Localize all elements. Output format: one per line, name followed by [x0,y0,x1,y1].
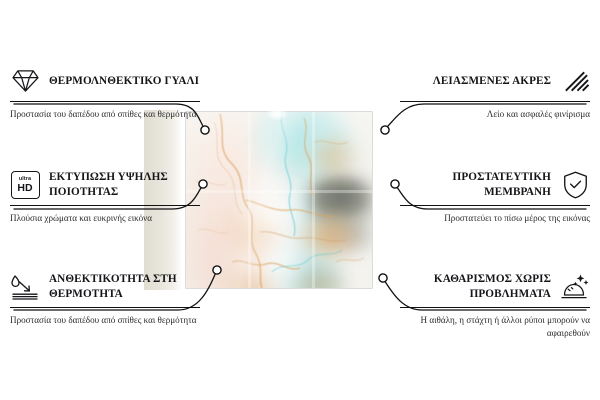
divider [400,205,590,206]
feature-high-quality-print: ultra HD ΕΚΤΥΠΩΣΗ ΥΨΗΛΗΣ ΠΟΙΟΤΗΤΑΣ Πλούσ… [10,168,200,225]
diamond-icon [10,66,40,96]
ultra-hd-bottom-label: HD [17,183,32,194]
connector-dot-bottom-right [379,274,387,282]
feature-protective-membrane: ΠΡΟΣΤΑΤΕΥΤΙΚΗ ΜΕΜΒΡΑΝΗ Προστατεύει το πί… [400,168,590,225]
feature-description: Πλούσια χρώματα και ευκρινής εικόνα [10,212,200,225]
connector-dot-mid-right [391,180,399,188]
feature-heat-resistant-glass: ΘΕΡΜΟΛΝΘΕΚΤΙΚΟ ΓΥΑΛΙ Προστασία του δαπέδ… [10,64,200,121]
connector-dot-top-right [381,126,389,134]
feature-header: ΛΕΙΑΣΜΕΝΕΣ ΑΚΡΕΣ [400,64,590,98]
ink-veins [186,112,372,288]
product-image [186,112,372,288]
feature-header: ΘΕΡΜΟΛΝΘΕΚΤΙΚΟ ΓΥΑΛΙ [10,64,200,98]
feature-title: ΑΝΘΕΚΤΙΚΟΤΗΤΑ ΣΤΗ ΘΕΡΜΟΤΗΤΑ [49,272,200,302]
sparkle-clean-icon [560,272,590,302]
feature-header: ΠΡΟΣΤΑΤΕΥΤΙΚΗ ΜΕΜΒΡΑΝΗ [400,168,590,202]
divider [400,101,590,102]
flame-heat-icon [10,272,40,302]
divider [10,101,200,102]
infographic-page: ΘΕΡΜΟΛΝΘΕΚΤΙΚΟ ΓΥΑΛΙ Προστασία του δαπέδ… [0,0,600,400]
feature-easy-cleaning: ΚΑΘΑΡΙΣΜΟΣ ΧΩΡΙΣ ΠΡΟΒΛΗΜΑΤΑ Η αιθάλη, η … [400,270,590,340]
feature-header: ultra HD ΕΚΤΥΠΩΣΗ ΥΨΗΛΗΣ ΠΟΙΟΤΗΤΑΣ [10,168,200,202]
feature-heat-durability: ΑΝΘΕΚΤΙΚΟΤΗΤΑ ΣΤΗ ΘΕΡΜΟΤΗΤΑ Προστασία το… [10,270,200,327]
feature-description: Η αιθάλη, η στάχτη ή άλλοι ρύποι μπορούν… [400,314,590,340]
feature-header: ΑΝΘΕΚΤΙΚΟΤΗΤΑ ΣΤΗ ΘΕΡΜΟΤΗΤΑ [10,270,200,304]
feature-title: ΕΚΤΥΠΩΣΗ ΥΨΗΛΗΣ ΠΟΙΟΤΗΤΑΣ [49,170,200,200]
shield-check-icon [560,170,590,200]
glass-panel-surface [186,112,372,288]
feature-title: ΠΡΟΣΤΑΤΕΥΤΙΚΗ ΜΕΜΒΡΑΝΗ [400,170,551,200]
feature-title: ΘΕΡΜΟΛΝΘΕΚΤΙΚΟ ΓΥΑΛΙ [49,74,200,89]
feature-header: ΚΑΘΑΡΙΣΜΟΣ ΧΩΡΙΣ ΠΡΟΒΛΗΜΑΤΑ [400,270,590,304]
divider [10,307,200,308]
divider [10,205,200,206]
feature-description: Προστασία του δαπέδου από σπίθες και θερ… [10,108,200,121]
divider [400,307,590,308]
feature-polished-edges: ΛΕΙΑΣΜΕΝΕΣ ΑΚΡΕΣ Λείο και ασφαλές φινίρι… [400,64,590,121]
feature-description: Προστατεύει το πίσω μέρος της εικόνας [400,212,590,225]
ultra-hd-icon: ultra HD [10,170,40,200]
diagonal-stripes-icon [560,66,590,96]
feature-title: ΚΑΘΑΡΙΣΜΟΣ ΧΩΡΙΣ ΠΡΟΒΛΗΜΑΤΑ [400,272,551,302]
feature-title: ΛΕΙΑΣΜΕΝΕΣ ΑΚΡΕΣ [400,74,551,89]
feature-description: Προστασία του δαπέδου από σπίθες και θερ… [10,314,200,327]
feature-description: Λείο και ασφαλές φινίρισμα [400,108,590,121]
